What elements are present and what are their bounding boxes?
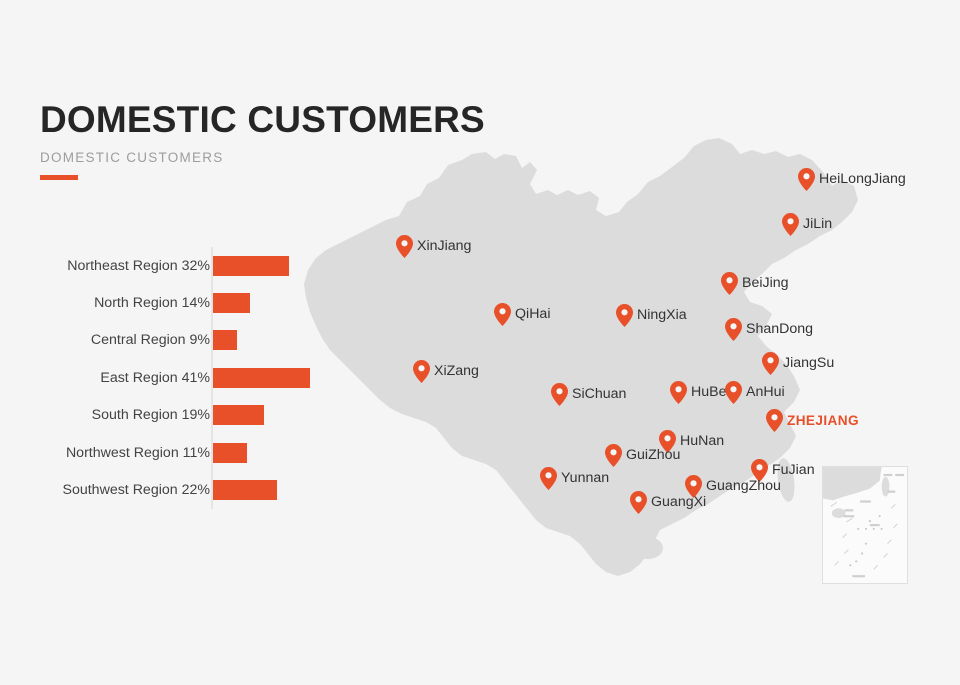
map-marker-label: GuangXi [651, 495, 706, 509]
map-marker-hubei[interactable]: HuBei [670, 381, 730, 404]
map-marker-ningxia[interactable]: NingXia [616, 304, 687, 327]
map-marker-label: Yunnan [561, 471, 609, 485]
bar-label: Central Region 9% [91, 332, 210, 348]
map-pin-icon [630, 491, 647, 514]
bar-label: North Region 14% [94, 295, 210, 311]
china-map: HeiLongJiangJiLinBeiJingXinJiangQiHaiNin… [296, 132, 960, 602]
inset-islet-dots [849, 515, 882, 566]
inset-landmass [823, 467, 882, 500]
accent-underline [40, 175, 78, 180]
map-marker-label: BeiJing [742, 276, 789, 290]
map-pin-icon [782, 213, 799, 236]
map-marker-jiangsu[interactable]: JiangSu [762, 352, 834, 375]
map-marker-xinjiang[interactable]: XinJiang [396, 235, 471, 258]
bar-label: South Region 19% [92, 407, 210, 423]
bar-fill [213, 330, 237, 350]
bar-fill [213, 293, 250, 313]
map-marker-beijing[interactable]: BeiJing [721, 272, 789, 295]
map-marker-label: ShanDong [746, 322, 813, 336]
map-marker-label: HuBei [691, 385, 730, 399]
map-marker-sichuan[interactable]: SiChuan [551, 383, 626, 406]
map-marker-qihai[interactable]: QiHai [494, 303, 550, 326]
map-pin-icon [766, 409, 783, 432]
map-marker-label: QiHai [515, 307, 550, 321]
map-marker-label: GuiZhou [626, 448, 680, 462]
map-marker-jilin[interactable]: JiLin [782, 213, 832, 236]
map-marker-label: XiZang [434, 364, 479, 378]
map-marker-zhejiang[interactable]: ZHEJIANG [766, 409, 859, 432]
map-marker-label: HuNan [680, 434, 724, 448]
map-pin-icon [605, 444, 622, 467]
inset-map-graphic [823, 467, 907, 583]
map-pin-icon [798, 168, 815, 191]
inset-hainan [832, 508, 846, 518]
bar-label: Northwest Region 11% [66, 445, 210, 461]
slide-canvas: DOMESTIC CUSTOMERS DOMESTIC CUSTOMERS No… [0, 0, 960, 685]
map-marker-anhui[interactable]: AnHui [725, 381, 785, 404]
map-marker-xizang[interactable]: XiZang [413, 360, 479, 383]
map-marker-label: HeiLongJiang [819, 172, 906, 186]
map-marker-label: SiChuan [572, 387, 626, 401]
map-marker-label: NingXia [637, 308, 687, 322]
south-china-sea-inset [822, 466, 908, 584]
map-marker-label: AnHui [746, 385, 785, 399]
map-pin-icon [494, 303, 511, 326]
bar-label: East Region 41% [100, 370, 210, 386]
map-pin-icon [396, 235, 413, 258]
map-marker-guizhou[interactable]: GuiZhou [605, 444, 680, 467]
map-pin-icon [762, 352, 779, 375]
map-marker-label: JiLin [803, 217, 832, 231]
map-marker-label: XinJiang [417, 239, 471, 253]
bar-label: Northeast Region 32% [67, 258, 210, 274]
map-marker-shandong[interactable]: ShanDong [725, 318, 813, 341]
map-marker-label: JiangSu [783, 356, 834, 370]
bar-fill [213, 480, 277, 500]
map-marker-label: GuangZhou [706, 479, 781, 493]
hainan-island [633, 537, 663, 559]
bar-fill [213, 256, 289, 276]
map-marker-label: ZHEJIANG [787, 414, 859, 428]
map-pin-icon [616, 304, 633, 327]
map-pin-icon [551, 383, 568, 406]
map-pin-icon [725, 381, 742, 404]
map-pin-icon [413, 360, 430, 383]
map-pin-icon [540, 467, 557, 490]
map-pin-icon [670, 381, 687, 404]
bar-label: Southwest Region 22% [63, 482, 211, 498]
map-marker-yunnan[interactable]: Yunnan [540, 467, 609, 490]
map-marker-heilongjiang[interactable]: HeiLongJiang [798, 168, 906, 191]
bar-fill [213, 405, 264, 425]
inset-taiwan [882, 477, 890, 497]
map-pin-icon [725, 318, 742, 341]
map-pin-icon [721, 272, 738, 295]
bar-fill [213, 443, 247, 463]
map-marker-guangxi[interactable]: GuangXi [630, 491, 706, 514]
